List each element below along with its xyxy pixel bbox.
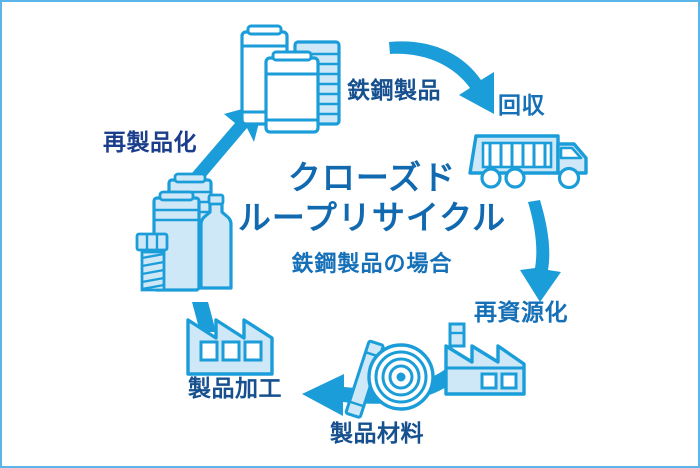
truck-icon bbox=[470, 136, 586, 188]
label-collection: 回収 bbox=[498, 95, 545, 118]
factory-right-icon bbox=[446, 324, 524, 394]
diagram-canvas: クローズド ループリサイクル 鉄鋼製品の場合 鉄鋼製品 回収 再資源化 製品材料… bbox=[0, 0, 700, 468]
label-steel-products: 鉄鋼製品 bbox=[347, 80, 441, 103]
coil-icon bbox=[346, 341, 433, 418]
cans-icon bbox=[242, 26, 339, 132]
label-re-manufacture: 再製品化 bbox=[103, 132, 197, 155]
illustration-layer bbox=[2, 2, 700, 468]
products-icon bbox=[137, 174, 231, 290]
label-re-resourcing: 再資源化 bbox=[474, 302, 568, 325]
arrow-right-down bbox=[520, 200, 561, 302]
label-product-process: 製品加工 bbox=[188, 378, 282, 401]
label-product-material: 製品材料 bbox=[330, 423, 424, 446]
factory-left-icon bbox=[188, 302, 272, 374]
